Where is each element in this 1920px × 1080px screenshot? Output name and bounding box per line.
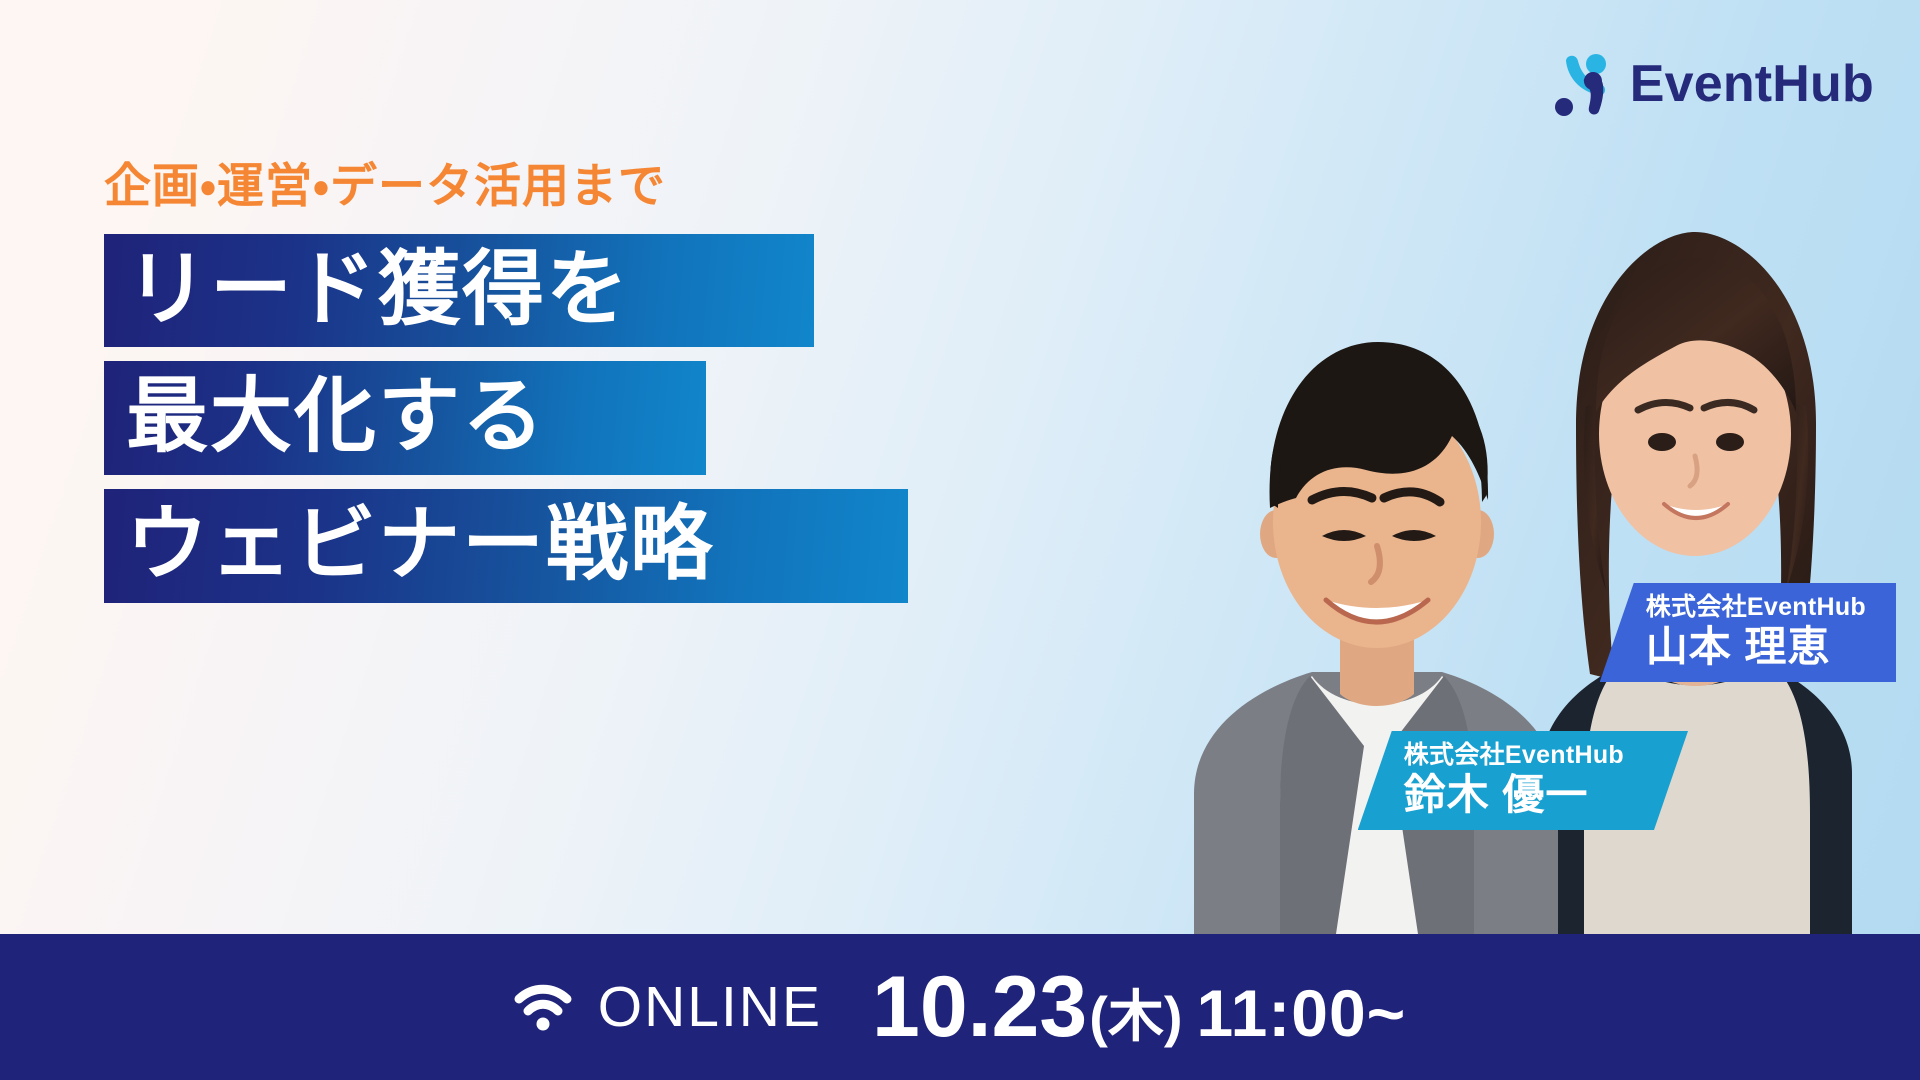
- event-day-of-week: (木): [1089, 989, 1182, 1045]
- nameplate-name-female: 山本 理恵: [1646, 623, 1866, 670]
- event-info-bar: ONLINE 10.23 (木) 11:00~: [0, 934, 1920, 1080]
- title-band-3: ウェビナー戦略: [104, 489, 908, 603]
- nameplate-company-male: 株式会社EventHub: [1404, 741, 1624, 769]
- headline-block: 企画・運営・データ活用まで リード獲得を 最大化する ウェビナー戦略: [104, 160, 1104, 603]
- nameplate-female: 株式会社EventHub 山本 理恵: [1600, 583, 1896, 682]
- title-band-1: リード獲得を: [104, 234, 814, 348]
- event-time: 11:00~: [1197, 980, 1407, 1046]
- title-band-2: 最大化する: [104, 361, 706, 475]
- speaker-photos: 株式会社EventHub 山本 理恵 株式会社EventHub 鈴木 優一: [1080, 134, 1920, 934]
- speaker-male-portrait: [1160, 294, 1590, 934]
- speaker-photo-male: [1160, 294, 1590, 934]
- eventhub-people-mark: [1554, 51, 1616, 117]
- event-datetime: 10.23 (木) 11:00~: [872, 964, 1406, 1050]
- nameplate-male: 株式会社EventHub 鈴木 優一: [1358, 731, 1688, 830]
- event-date: 10.23: [872, 964, 1087, 1050]
- event-mode-label: ONLINE: [598, 979, 822, 1036]
- wifi-icon: [514, 983, 572, 1031]
- headline-title: リード獲得を 最大化する ウェビナー戦略: [104, 234, 1104, 603]
- webinar-banner: EventHub 企画・運営・データ活用まで リード獲得を 最大化する ウェビナ…: [0, 0, 1920, 1080]
- nameplate-company-female: 株式会社EventHub: [1646, 593, 1866, 621]
- headline-kicker: 企画・運営・データ活用まで: [104, 160, 1104, 212]
- eventhub-logo: EventHub: [1554, 46, 1874, 122]
- logo-wordmark: EventHub: [1630, 58, 1874, 110]
- nameplate-name-male: 鈴木 優一: [1404, 771, 1624, 818]
